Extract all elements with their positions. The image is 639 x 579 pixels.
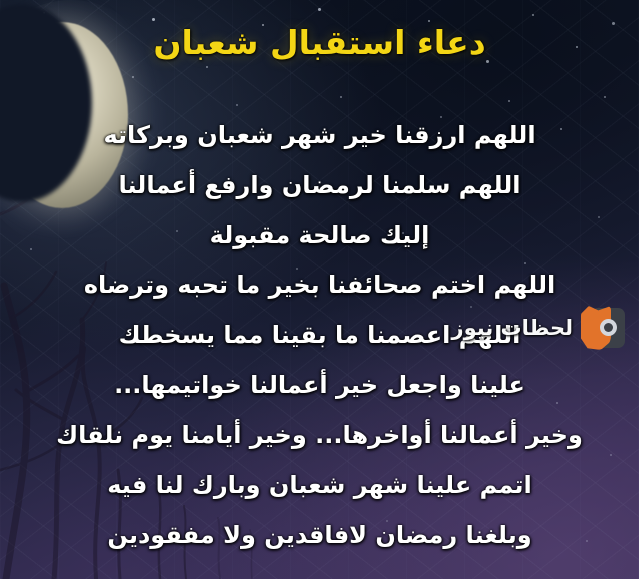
watermark-label: لحظات نيوز: [452, 318, 574, 339]
dua-poster: دعاء استقبال شعبان اللهم ارزقنا خير شهر …: [0, 0, 639, 579]
dua-line: وبلغنا رمضان لافاقدين ولا مفقودين: [10, 510, 629, 560]
watermark: لحظات نيوز: [452, 306, 626, 350]
dua-line: اتمم علينا شهر شعبان وبارك لنا فيه: [10, 460, 629, 510]
dua-line: اللهم سلمنا لرمضان وارفع أعمالنا: [10, 160, 629, 210]
dua-line: علينا واجعل خير أعمالنا خواتيمها...: [10, 360, 629, 410]
eye-camera-logo-icon: [579, 306, 625, 350]
dua-line: اللهم ارزقنا خير شهر شعبان وبركاته: [10, 110, 629, 160]
dua-line: إليك صالحة مقبولة: [10, 210, 629, 260]
page-title: دعاء استقبال شعبان: [0, 22, 639, 63]
dua-line: وخير أعمالنا أواخرها... وخير أيامنا يوم …: [10, 410, 629, 460]
dua-line: اللهم اختم صحائفنا بخير ما تحبه وترضاه: [10, 260, 629, 310]
